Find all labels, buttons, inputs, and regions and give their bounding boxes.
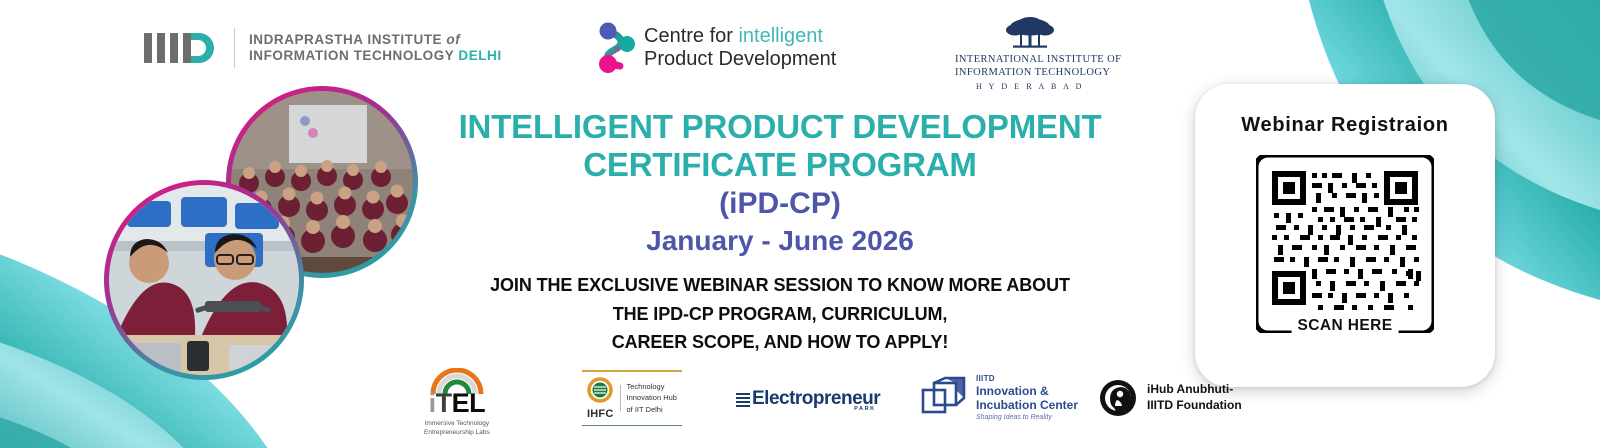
- ihub-line-2: IIITD Foundation: [1147, 398, 1242, 414]
- ihub-anubhuti-logo: iHub Anubhuti- IIITD Foundation: [1098, 378, 1242, 418]
- iiitd-logo-mark-icon: [142, 31, 220, 65]
- ihfc-rule-bottom: [582, 425, 682, 427]
- head-profile-icon: [1098, 378, 1138, 418]
- ihub-line-1: iHub Anubhuti-: [1147, 382, 1242, 398]
- cipd-logo: Centre for intelligent Product Developme…: [596, 20, 836, 76]
- iiith-line-2: INFORMATION TECHNOLOGY: [955, 66, 1105, 79]
- itel-wordmark: iTEL: [429, 390, 486, 417]
- ihfc-divider: [620, 385, 621, 411]
- iiitd-incubation-logo: IIITD Innovation & Incubation Center Sha…: [920, 374, 1078, 423]
- main-title-block: INTELLIGENT PRODUCT DEVELOPMENT CERTIFIC…: [400, 108, 1160, 356]
- iiitd-logo: INDRAPRASTHA INSTITUTE of INFORMATION TE…: [142, 28, 502, 68]
- qr-card-title: Webinar Registraion: [1241, 114, 1448, 137]
- photo-students-drone: [104, 180, 304, 380]
- subtitle-line-2: THE IPD-CP PROGRAM, CURRICULUM,: [400, 300, 1160, 328]
- itel-tagline: Immersive Technology Entrepreneurship La…: [424, 419, 490, 438]
- iiic-line-2: Incubation Center: [976, 398, 1078, 413]
- electropreneur-park-logo: Electropreneur PARK: [736, 388, 876, 410]
- itel-logo: iTEL Immersive Technology Entrepreneursh…: [424, 368, 490, 438]
- subtitle-line-1: JOIN THE EXCLUSIVE WEBINAR SESSION TO KN…: [400, 271, 1160, 299]
- epark-subword: PARK: [854, 406, 876, 412]
- title-line-2: CERTIFICATE PROGRAM: [400, 146, 1160, 184]
- webinar-banner: INDRAPRASTHA INSTITUTE of INFORMATION TE…: [0, 0, 1600, 448]
- title-line-1: INTELLIGENT PRODUCT DEVELOPMENT: [400, 108, 1160, 146]
- subtitle-block: JOIN THE EXCLUSIVE WEBINAR SESSION TO KN…: [400, 271, 1160, 355]
- students-drone-lab-photo: [109, 185, 299, 375]
- iiic-tagline: Shaping Ideas to Reality: [976, 414, 1078, 423]
- iiic-line-0: IIITD: [976, 374, 1078, 384]
- scan-here-label: SCAN HERE: [1292, 317, 1399, 335]
- qr-code-frame[interactable]: SCAN HERE: [1256, 155, 1434, 333]
- iiic-line-1: Innovation &: [976, 384, 1078, 399]
- ihfc-wordmark: IHFC: [587, 408, 613, 420]
- qr-code-icon[interactable]: [1256, 155, 1434, 333]
- logo-divider: [234, 28, 235, 68]
- program-dates: January - June 2026: [400, 223, 1160, 258]
- iiith-line-1: INTERNATIONAL INSTITUTE OF: [955, 53, 1105, 66]
- cipd-line-1: Centre for intelligent: [644, 25, 836, 48]
- cipd-line-2: Product Development: [644, 48, 836, 71]
- program-code: (iPD-CP): [400, 184, 1160, 223]
- iiitd-line-2: INFORMATION TECHNOLOGY DELHI: [249, 48, 502, 64]
- ihfc-circle-icon: [587, 377, 613, 403]
- cipd-node-mark-icon: [596, 20, 638, 76]
- banyan-tree-icon: [999, 16, 1061, 50]
- webinar-registration-card[interactable]: Webinar Registraion: [1195, 84, 1495, 387]
- photo-collage: [96, 76, 436, 396]
- subtitle-line-3: CAREER SCOPE, AND HOW TO APPLY!: [400, 328, 1160, 356]
- ihfc-logo: IHFC Technology Innovation Hub of IIT De…: [582, 370, 682, 426]
- epark-mark-icon: [736, 392, 750, 408]
- iiit-hyderabad-logo: INTERNATIONAL INSTITUTE OF INFORMATION T…: [955, 16, 1105, 91]
- partner-logo-footer: iTEL Immersive Technology Entrepreneursh…: [0, 366, 1600, 448]
- iiitd-line-1: INDRAPRASTHA INSTITUTE of: [249, 32, 502, 48]
- cube-squares-icon: [920, 376, 968, 420]
- iiith-line-3: H Y D E R A B A D: [955, 82, 1105, 91]
- ihfc-tagline: Technology Innovation Hub of IIT Delhi: [627, 381, 677, 415]
